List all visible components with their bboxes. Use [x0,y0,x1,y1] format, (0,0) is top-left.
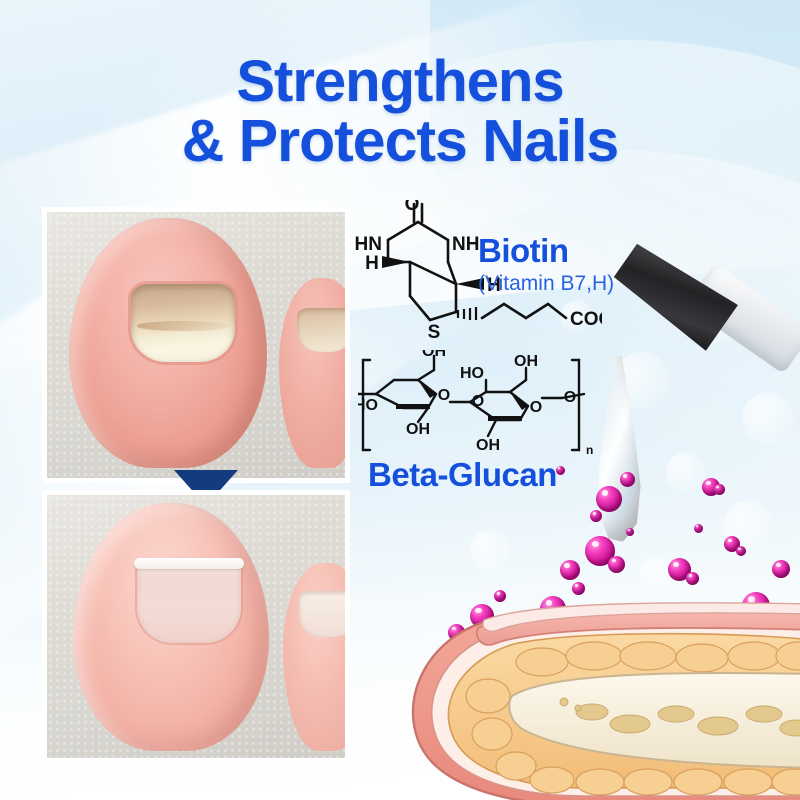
biotin-label: Biotin [478,232,568,270]
second-toe-before [279,278,345,468]
wedge-bond-left [382,256,410,268]
svg-text:O: O [472,393,484,410]
advertisement-canvas: Strengthens & Protects Nails [0,0,800,800]
bubble-particle [608,556,625,573]
bubble-particle [686,572,699,585]
second-toenail-before [297,308,345,352]
biotin-sublabel: (Vitamin B7,H) [478,272,614,296]
bubble-particle [556,466,565,475]
bubble-particle [590,510,602,522]
nail-cross-section-illustration [392,600,800,800]
bubble-particle [714,484,725,495]
before-photo [47,212,345,478]
bubble-particle [772,560,790,578]
svg-text:NH: NH [452,234,479,255]
beta-glucan-structure-icon: OH O HO OH O HO OH O OH O n [358,350,608,460]
svg-text:n: n [586,443,593,457]
second-toenail-after [299,591,345,637]
svg-text:COOH: COOH [570,309,602,330]
damaged-toenail [131,284,235,362]
headline-line-1: Strengthens [236,49,563,114]
svg-text:HN: HN [355,234,382,255]
svg-text:HO: HO [460,365,484,382]
beta-glucan-label: Beta-Glucan [368,456,557,494]
svg-text:HO: HO [358,397,378,414]
svg-text:O: O [405,200,420,215]
big-toe-before [69,218,267,468]
bubble-particle [626,528,634,536]
after-photo-content [47,495,345,758]
svg-text:S: S [428,322,441,343]
svg-text:OH: OH [476,437,500,454]
svg-text:OH: OH [422,350,446,360]
big-toe-after [73,503,269,751]
bubble-particle [694,524,703,533]
svg-text:H: H [365,253,379,274]
healthy-toenail [137,563,241,643]
svg-text:O: O [530,399,542,416]
svg-text:O: O [438,387,450,404]
bokeh-circle [742,392,794,444]
bokeh-circle [666,452,706,492]
bubble-particle [596,486,622,512]
svg-text:OH: OH [514,353,538,370]
bubble-particle [560,560,580,580]
bubble-particle [736,546,746,556]
headline-line-2: & Protects Nails [0,111,800,171]
bubble-particle [572,582,585,595]
before-photo-content [47,212,345,478]
svg-text:OH: OH [406,421,430,438]
svg-text:O: O [564,389,576,406]
after-photo [47,495,345,758]
bokeh-circle [470,530,510,570]
bubble-particle [620,472,635,487]
headline: Strengthens & Protects Nails [0,52,800,171]
